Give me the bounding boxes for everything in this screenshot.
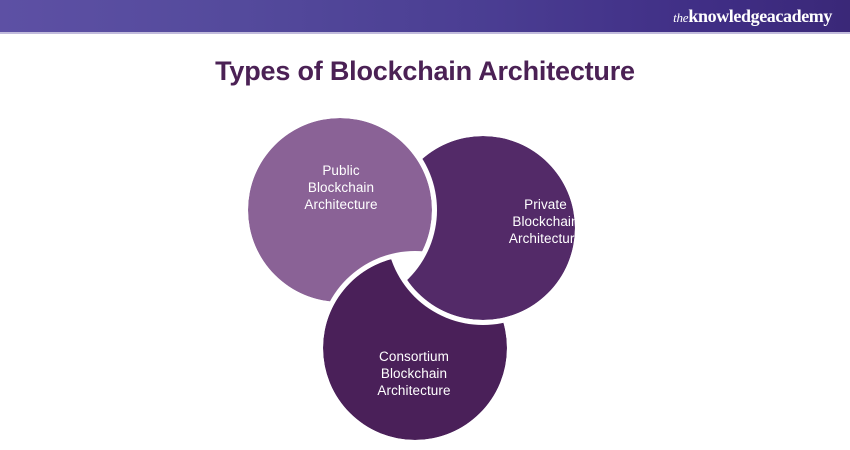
header-band: the knowledgeacademy (0, 0, 850, 32)
knowledge-academy-logo: the knowledgeacademy (673, 7, 832, 25)
brand-prefix-text: the (673, 11, 688, 24)
blockchain-architecture-diagram: Public Blockchain Architecture Private B… (0, 100, 850, 450)
braided-venn-svg (235, 100, 595, 450)
header-underline (0, 32, 850, 34)
page-title: Types of Blockchain Architecture (0, 56, 850, 87)
circle-consortium-blockchain-architecture (323, 256, 507, 440)
brand-name-text: knowledgeacademy (688, 7, 832, 25)
